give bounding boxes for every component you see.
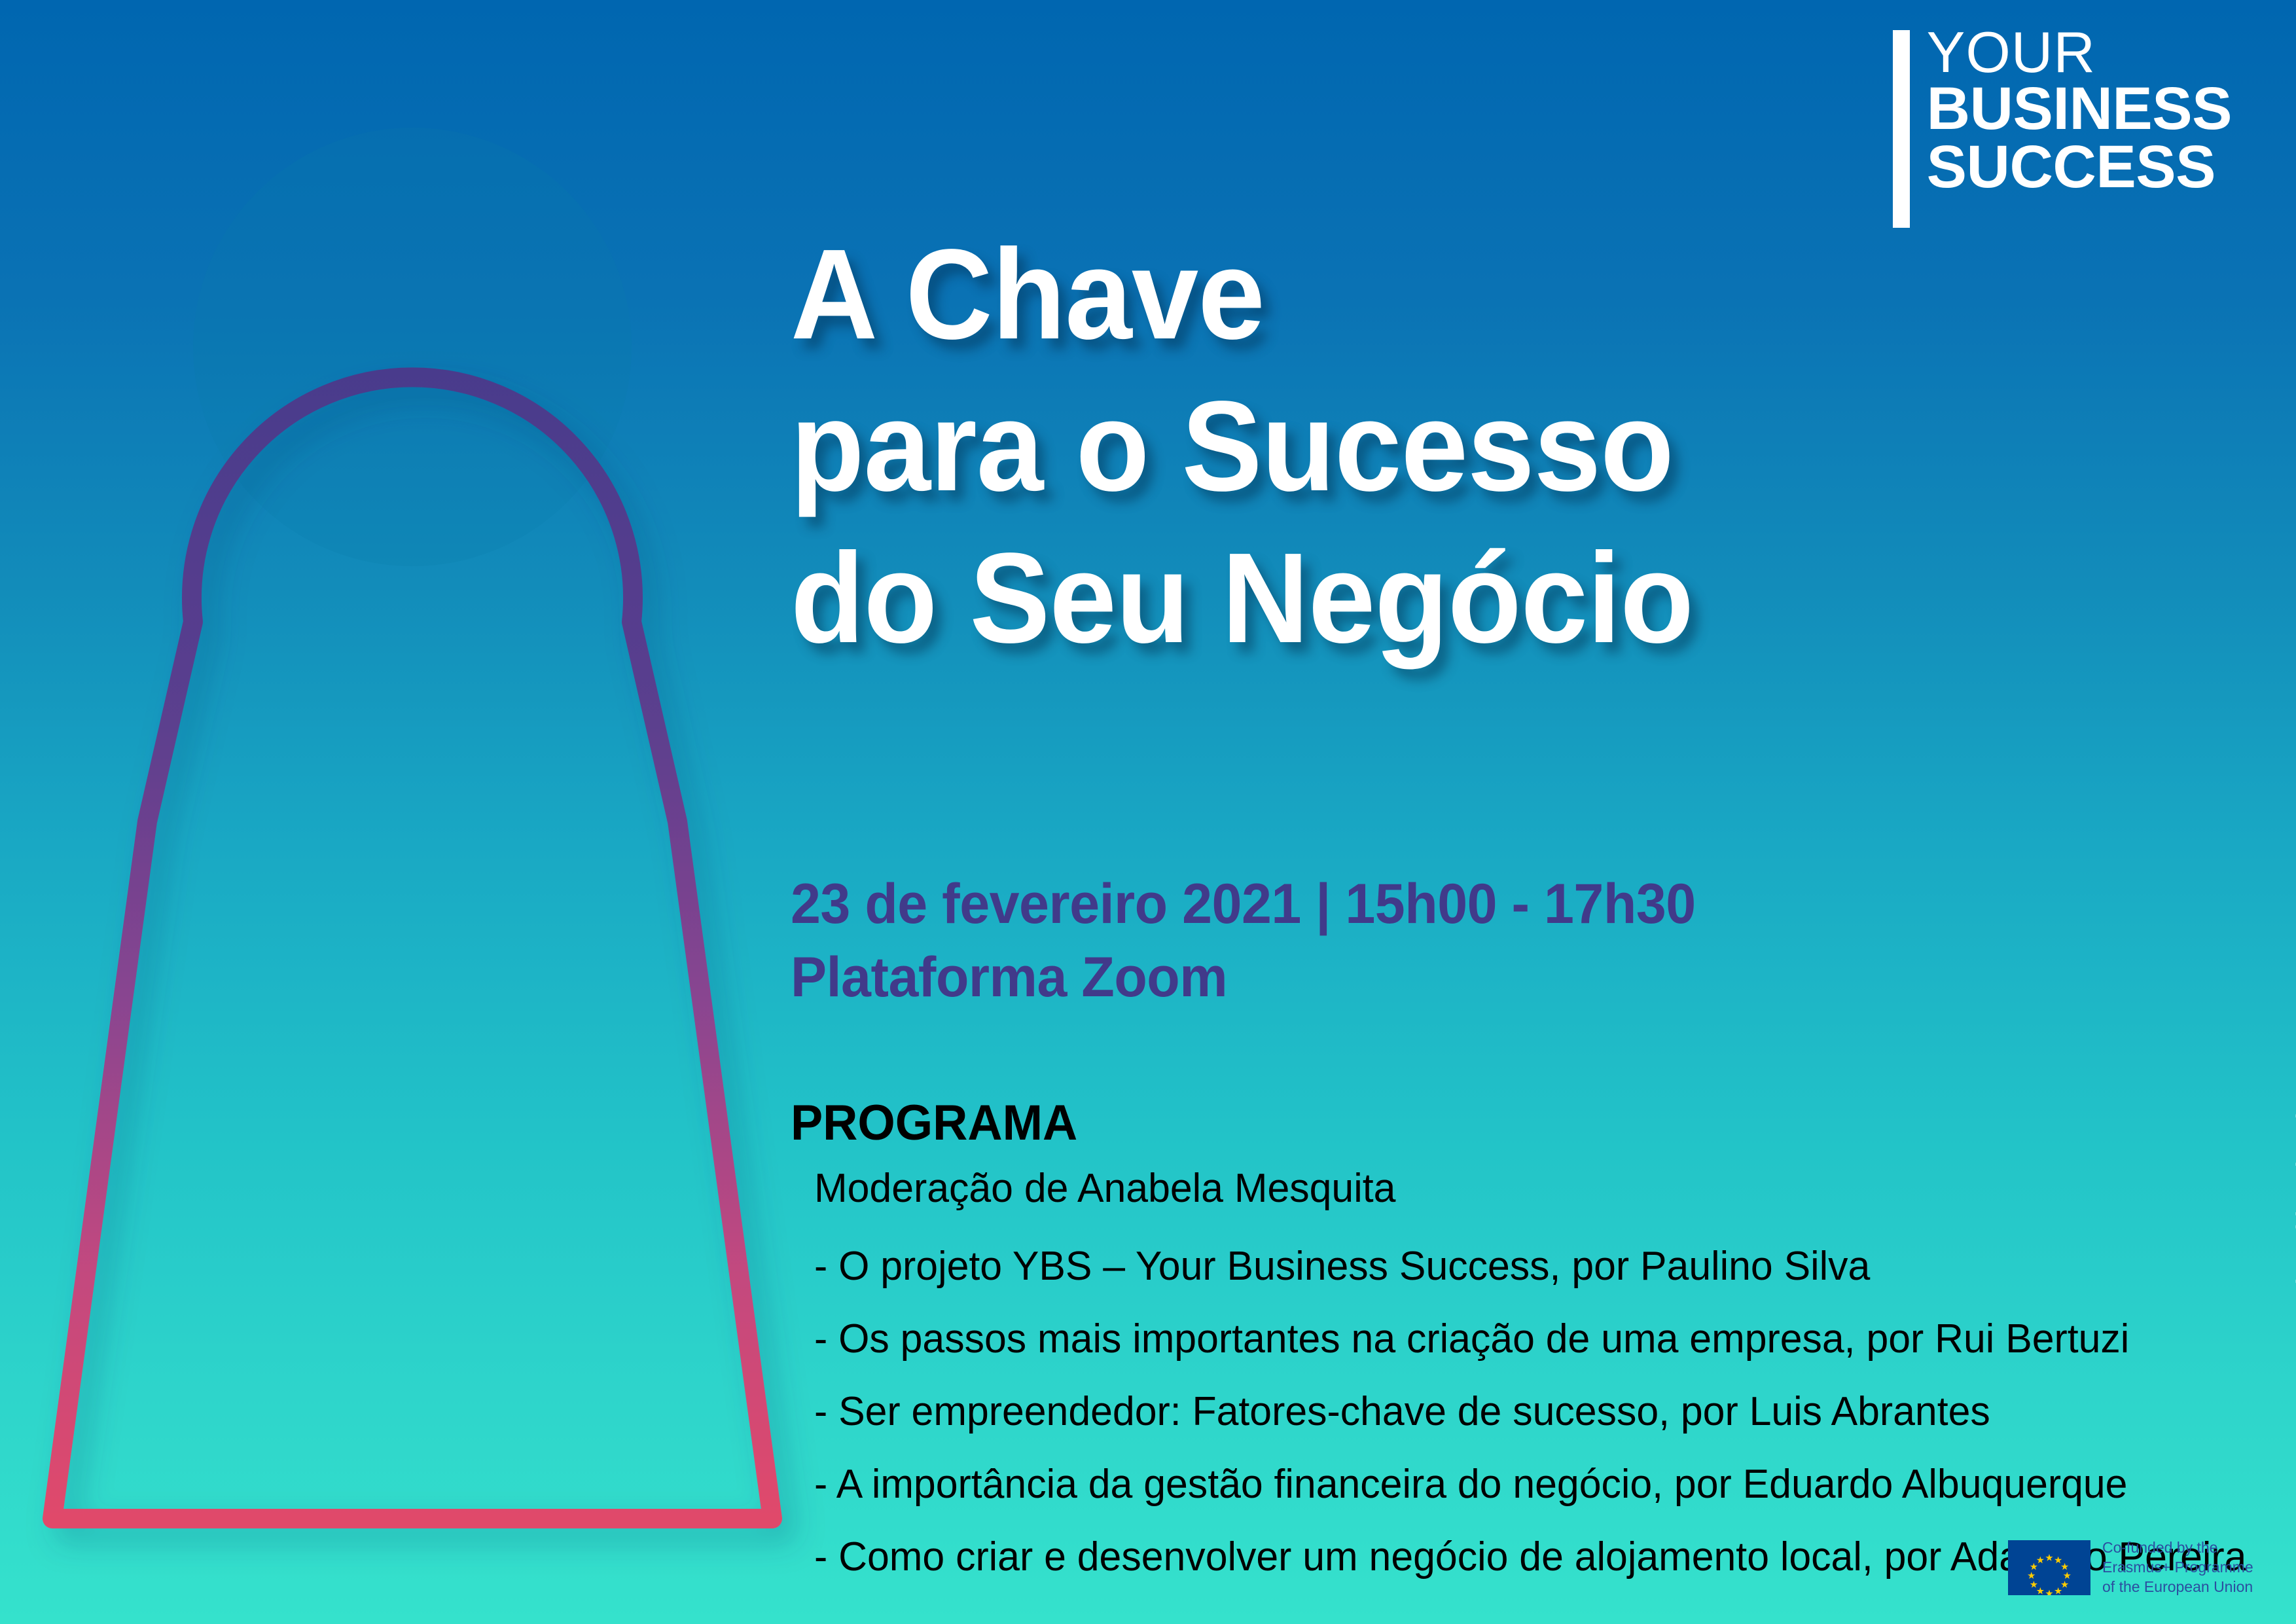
eu-funding-badge: Co-funded by the Erasmus+ Programme of t… (2008, 1538, 2253, 1597)
keyhole-svg (0, 0, 844, 1624)
logo-line-success: SUCCESS (1927, 138, 2232, 196)
logo-bar-icon (1893, 30, 1910, 228)
event-platform: Plataforma Zoom (791, 941, 2110, 1015)
programme-item: - A importância da gestão financeira do … (814, 1463, 2260, 1507)
eu-funding-line-1: Co-funded by the (2102, 1538, 2253, 1558)
page-title: A Chave para o Sucesso do Seu Negócio (791, 230, 2139, 686)
keyhole-path (52, 377, 772, 1519)
keyhole-circle-fill (193, 128, 632, 566)
event-date-time: 23 de fevereiro 2021 | 15h00 - 17h30 (791, 868, 2110, 941)
title-line-1: A Chave (791, 230, 2058, 359)
programme-item: - Os passos mais importantes na criação … (814, 1318, 2260, 1362)
event-when: 23 de fevereiro 2021 | 15h00 - 17h30 Pla… (791, 868, 2110, 1015)
title-line-2: para o Sucesso (791, 382, 2058, 511)
eu-flag-icon (2008, 1540, 2090, 1595)
keyhole-graphic (0, 0, 844, 1624)
programme-moderator: Moderação de Anabela Mesquita (814, 1167, 2260, 1211)
eu-stars-icon (2008, 1540, 2090, 1595)
programme-item: - O projeto YBS – Your Business Success,… (814, 1245, 2260, 1289)
eu-funding-line-2: Erasmus+ Programme (2102, 1558, 2253, 1578)
programme-heading: PROGRAMA (791, 1094, 2244, 1151)
eu-funding-line-3: of the European Union (2102, 1578, 2253, 1597)
event-poster: YOUR BUSINESS SUCCESS A Chave para o Suc… (0, 0, 2296, 1624)
logo-line-your: YOUR (1927, 25, 2232, 80)
logo-wordmark: YOUR BUSINESS SUCCESS (1927, 25, 2232, 196)
title-line-3: do Seu Negócio (791, 534, 2058, 662)
eu-funding-text: Co-funded by the Erasmus+ Programme of t… (2102, 1538, 2253, 1597)
designer-credit: Designed by Ricardo Soares · GCRP-ISCAP (2292, 907, 2296, 1326)
keyhole-outline (52, 377, 772, 1519)
ybs-logo: YOUR BUSINESS SUCCESS (1893, 25, 2232, 228)
programme-section: PROGRAMA Moderação de Anabela Mesquita -… (791, 1094, 2289, 1608)
programme-item: - Ser empreendedor: Fatores-chave de suc… (814, 1390, 2260, 1434)
logo-line-business: BUSINESS (1927, 80, 2232, 137)
